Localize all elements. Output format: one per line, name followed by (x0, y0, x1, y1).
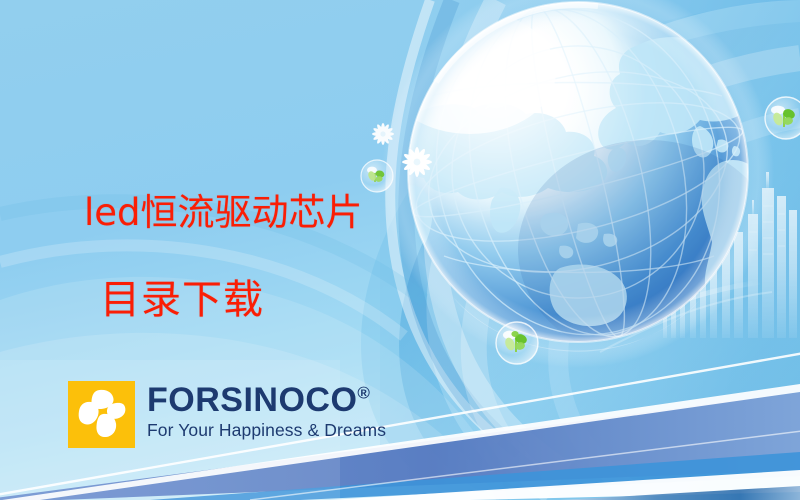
pinwheel-logo-icon (68, 381, 135, 448)
bubble-with-sprout (765, 97, 800, 139)
logo-tagline: For Your Happiness & Dreams (147, 420, 386, 440)
brand-logo: FORSINOCO® For Your Happiness & Dreams (68, 381, 386, 448)
logo-text-block: FORSINOCO® For Your Happiness & Dreams (147, 383, 386, 440)
promo-banner: led恒流驱动芯片 目录下载 FORSINOCO® For Your Happi… (0, 0, 800, 500)
bubble-with-sprout (496, 322, 538, 364)
registered-trademark-icon: ® (357, 384, 370, 403)
logo-wordmark-text: FORSINOCO (147, 381, 357, 419)
headline-line-1: led恒流驱动芯片 (84, 194, 363, 231)
headline-line-2: 目录下载 (100, 280, 363, 320)
bubble-with-sprout (361, 160, 393, 192)
headline: led恒流驱动芯片 目录下载 (84, 162, 363, 352)
logo-wordmark: FORSINOCO® (147, 383, 386, 417)
